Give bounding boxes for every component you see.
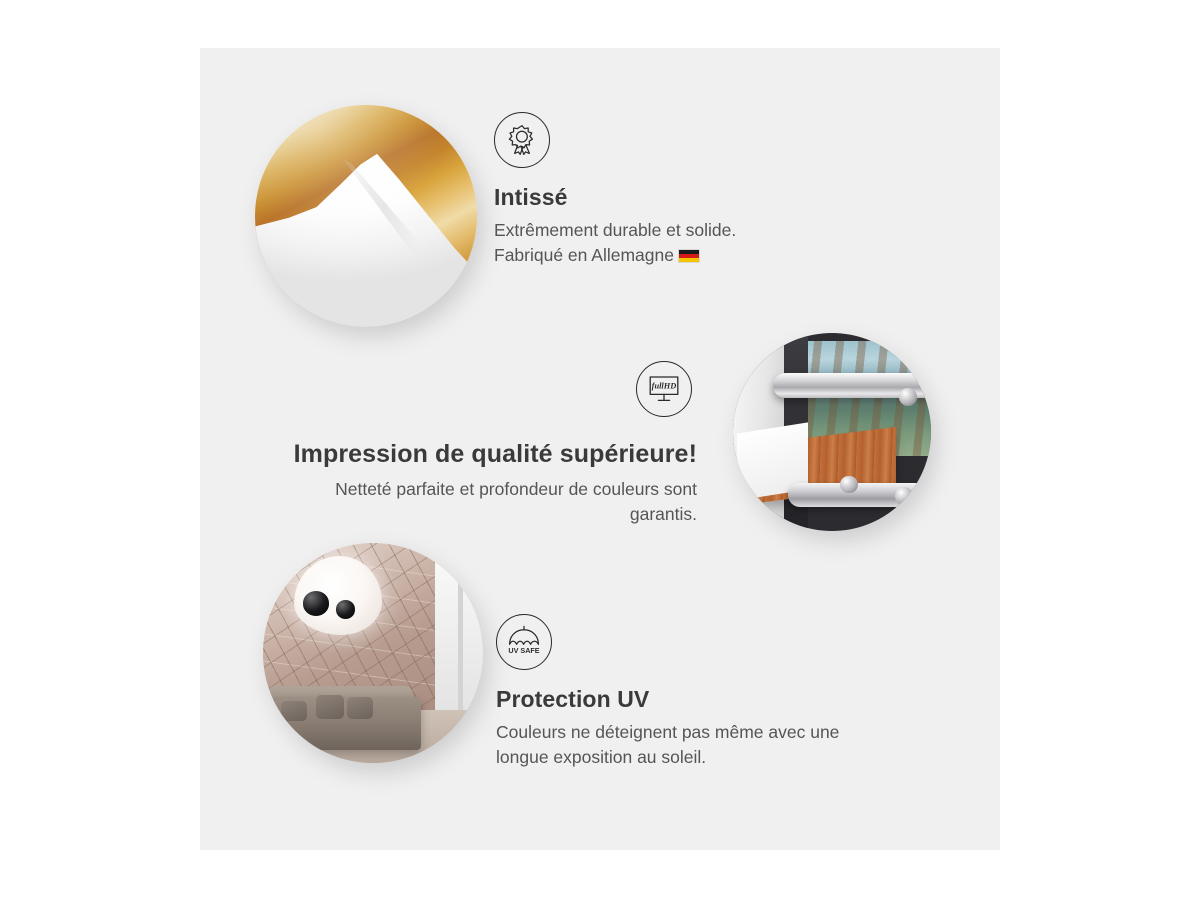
feature-description: Netteté parfaite et profondeur de couleu…	[283, 477, 697, 527]
feature-icon-wrapper-impression: fullHD	[636, 361, 692, 417]
feature-title: Protection UV	[496, 686, 886, 712]
feature-title: Intissé	[494, 184, 824, 210]
feature-description: Extrêmement durable et solide. Fabriqué …	[494, 218, 824, 268]
description-line-1: Extrêmement durable et solide.	[494, 220, 736, 240]
fullhd-label: fullHD	[652, 382, 677, 391]
living-room-mural-photo	[263, 543, 483, 763]
feature-description: Couleurs ne déteignent pas même avec une…	[496, 720, 886, 770]
flag-germany-icon	[678, 249, 700, 263]
description-line-2: Fabriqué en Allemagne	[494, 245, 674, 265]
feature-block-protection-uv: UV SAFE Protection UV Couleurs ne déteig…	[496, 614, 886, 770]
fullhd-monitor-icon: fullHD	[636, 361, 692, 417]
description-line-2: garantis.	[630, 504, 697, 524]
uv-safe-umbrella-icon: UV SAFE	[496, 614, 552, 670]
feature-block-impression: Impression de qualité supérieure! Nettet…	[283, 424, 697, 526]
description-line-1: Couleurs ne déteignent pas même avec une	[496, 722, 839, 742]
wallpaper-sheet-peeled-corner-photo	[255, 105, 477, 327]
feature-block-intisse: Intissé Extrêmement durable et solide. F…	[494, 112, 824, 268]
description-line-2: longue exposition au soleil.	[496, 747, 706, 767]
product-feature-infographic: Intissé Extrêmement durable et solide. F…	[0, 0, 1200, 900]
description-line-1: Netteté parfaite et profondeur de couleu…	[335, 479, 697, 499]
uv-safe-label: UV SAFE	[508, 646, 539, 655]
feature-title: Impression de qualité supérieure!	[283, 440, 697, 469]
printing-press-photo	[733, 333, 931, 531]
award-rosette-icon	[494, 112, 550, 168]
